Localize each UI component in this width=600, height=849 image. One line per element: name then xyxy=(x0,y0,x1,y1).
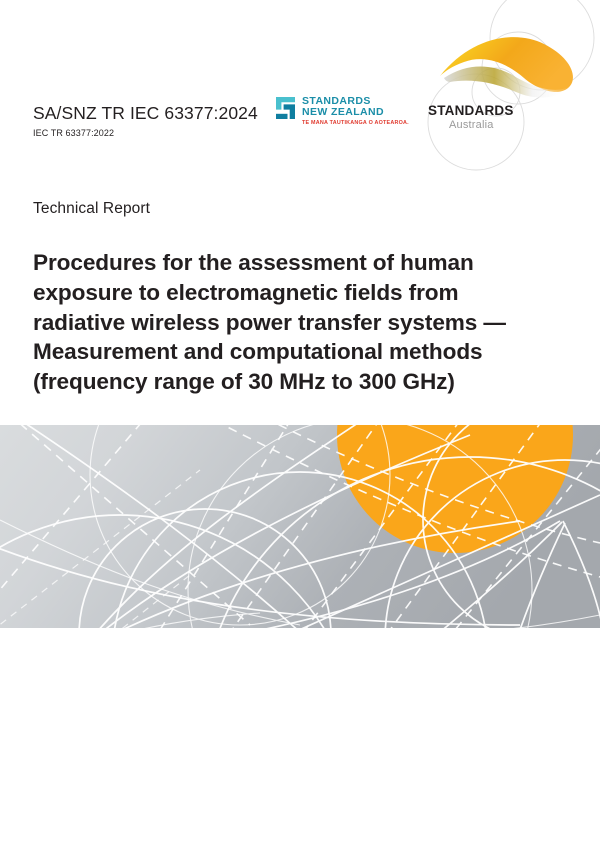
snz-stepped-bracket-icon xyxy=(276,97,296,119)
snz-maori-tagline: TE MANA TAUTIKANGA O AOTEAROA. xyxy=(302,120,409,126)
geometric-arcs-band xyxy=(0,425,600,628)
snz-line-2: NEW ZEALAND xyxy=(302,107,409,118)
sa-line-1: STANDARDS xyxy=(428,104,538,118)
standards-new-zealand-logo: STANDARDS NEW ZEALAND TE MANA TAUTIKANGA… xyxy=(276,96,409,126)
document-cover-page: SA/SNZ TR IEC 63377:2024 IEC TR 63377:20… xyxy=(0,0,600,849)
sa-swoosh-circles-icon xyxy=(420,0,600,200)
title-line: radiative wireless power transfer system… xyxy=(33,308,553,338)
title-line: Procedures for the assessment of human xyxy=(33,248,553,278)
document-number-block: SA/SNZ TR IEC 63377:2024 IEC TR 63377:20… xyxy=(33,104,258,138)
document-number-main: SA/SNZ TR IEC 63377:2024 xyxy=(33,104,258,123)
standards-australia-logo: STANDARDS Australia xyxy=(428,104,538,131)
document-type-label: Technical Report xyxy=(33,200,150,218)
snz-wordmark: STANDARDS NEW ZEALAND TE MANA TAUTIKANGA… xyxy=(302,96,409,126)
title-line: Measurement and computational methods xyxy=(33,337,553,367)
title-line: exposure to electromagnetic fields from xyxy=(33,278,553,308)
title-line: (frequency range of 30 MHz to 300 GHz) xyxy=(33,367,553,397)
page-title: Procedures for the assessment of human e… xyxy=(33,248,553,397)
document-number-sub: IEC TR 63377:2022 xyxy=(33,128,258,138)
sa-line-2: Australia xyxy=(449,120,538,131)
